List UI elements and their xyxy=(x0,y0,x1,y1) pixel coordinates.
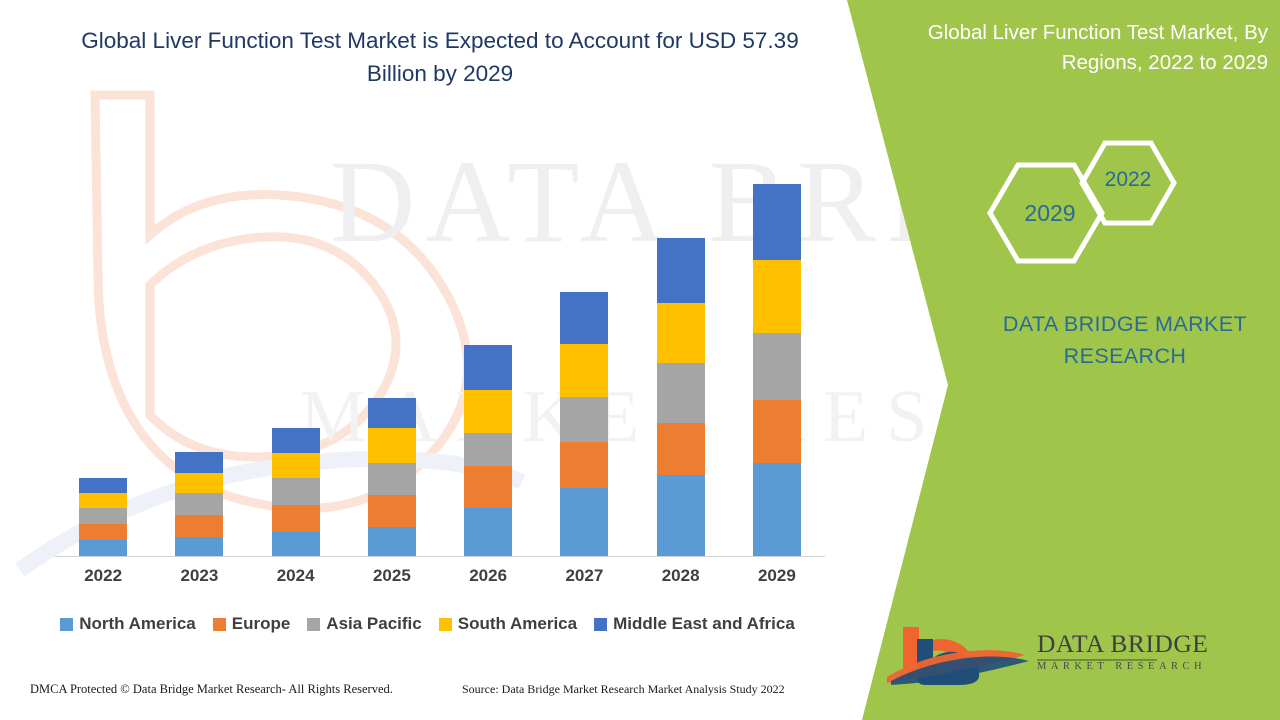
legend-swatch-icon xyxy=(307,618,320,631)
legend-item[interactable]: Europe xyxy=(213,614,291,634)
bar-segment xyxy=(272,478,320,505)
bar-segment xyxy=(272,532,320,556)
stacked-bar xyxy=(464,345,512,556)
bar-segment xyxy=(175,537,223,556)
bar-segment xyxy=(79,540,127,556)
chart-plot-area xyxy=(55,100,825,556)
bar-segment xyxy=(560,292,608,344)
bar-segment xyxy=(368,527,416,556)
legend-swatch-icon xyxy=(594,618,607,631)
brand-name-line1: DATA BRIDGE MARKET xyxy=(960,308,1280,340)
bar-segment xyxy=(272,428,320,453)
hexagon-label-2022: 2022 xyxy=(1091,168,1165,192)
source-note: Source: Data Bridge Market Research Mark… xyxy=(462,682,785,697)
legend-swatch-icon xyxy=(439,618,452,631)
bar-segment xyxy=(560,344,608,397)
bar-segment xyxy=(79,508,127,524)
bar-segment xyxy=(753,260,801,333)
legend-label: Europe xyxy=(232,614,291,634)
bar-segment xyxy=(657,238,705,303)
bar-segment xyxy=(464,466,512,508)
hexagon-label-2029: 2029 xyxy=(998,200,1102,227)
page-title: Global Liver Function Test Market is Exp… xyxy=(70,24,810,90)
bar-segment xyxy=(368,495,416,527)
bar-segment xyxy=(368,398,416,428)
stacked-bar xyxy=(79,478,127,556)
stacked-bar xyxy=(657,238,705,556)
legend-swatch-icon xyxy=(60,618,73,631)
bar-segment xyxy=(560,488,608,556)
stacked-bar xyxy=(560,292,608,556)
stacked-bar xyxy=(368,398,416,556)
bar-segment xyxy=(753,333,801,400)
bar-segment xyxy=(175,493,223,515)
bar-segment xyxy=(560,442,608,488)
bar-segment xyxy=(175,515,223,537)
legend-label: South America xyxy=(458,614,577,634)
bar-segment xyxy=(657,475,705,556)
bar-group xyxy=(151,100,247,556)
bar-segment xyxy=(753,184,801,260)
legend-label: Middle East and Africa xyxy=(613,614,795,634)
bar-segment xyxy=(272,453,320,478)
brand-name: DATA BRIDGE MARKET RESEARCH xyxy=(960,308,1280,372)
footer: DMCA Protected © Data Bridge Market Rese… xyxy=(0,682,855,708)
bar-group xyxy=(55,100,151,556)
bar-group xyxy=(344,100,440,556)
x-axis-label-2022: 2022 xyxy=(55,566,151,586)
bar-segment xyxy=(175,473,223,493)
bar-group xyxy=(729,100,825,556)
x-axis-label-2024: 2024 xyxy=(248,566,344,586)
x-axis-label-2026: 2026 xyxy=(440,566,536,586)
bar-segment xyxy=(753,463,801,556)
bar-segment xyxy=(657,363,705,423)
bar-segment xyxy=(464,390,512,433)
x-axis-line xyxy=(55,556,825,557)
bar-segment xyxy=(79,493,127,508)
stacked-bar xyxy=(753,184,801,556)
bar-segment xyxy=(464,508,512,556)
logo-text-main: DATA BRIDGE xyxy=(1037,629,1208,659)
db-monogram-icon xyxy=(885,625,1035,687)
brand-name-line2: RESEARCH xyxy=(960,340,1280,372)
bar-segment xyxy=(368,428,416,463)
x-axis-label-2029: 2029 xyxy=(729,566,825,586)
x-axis-label-2027: 2027 xyxy=(536,566,632,586)
bar-segment xyxy=(272,505,320,532)
stacked-bar xyxy=(175,452,223,556)
legend-label: Asia Pacific xyxy=(326,614,421,634)
legend-item[interactable]: Asia Pacific xyxy=(307,614,421,634)
stacked-bar xyxy=(272,428,320,556)
bar-segment xyxy=(657,303,705,363)
legend-item[interactable]: South America xyxy=(439,614,577,634)
bar-segment xyxy=(368,463,416,495)
bar-segment xyxy=(464,433,512,466)
legend-item[interactable]: North America xyxy=(60,614,196,634)
legend-item[interactable]: Middle East and Africa xyxy=(594,614,795,634)
bar-group xyxy=(440,100,536,556)
bar-segment xyxy=(560,397,608,442)
data-bridge-logo: DATA BRIDGE MARKET RESEARCH xyxy=(885,625,1145,687)
stacked-bar-chart: 20222023202420252026202720282029 xyxy=(0,0,860,600)
x-axis-label-2023: 2023 xyxy=(151,566,247,586)
bar-segment xyxy=(464,345,512,390)
x-axis-tick-labels: 20222023202420252026202720282029 xyxy=(55,566,825,596)
hexagon-badges: 2029 2022 xyxy=(960,130,1200,290)
bar-segment xyxy=(79,524,127,540)
bar-segment xyxy=(79,478,127,493)
x-axis-label-2028: 2028 xyxy=(633,566,729,586)
bar-segment xyxy=(657,423,705,475)
x-axis-label-2025: 2025 xyxy=(344,566,440,586)
bar-segment xyxy=(175,452,223,473)
bar-group xyxy=(536,100,632,556)
logo-text-sub: MARKET RESEARCH xyxy=(1037,661,1206,672)
infographic-canvas: DATA BRIDGE MARKET RESEARCH Global Liver… xyxy=(0,0,1280,720)
dmca-notice: DMCA Protected © Data Bridge Market Rese… xyxy=(30,682,393,697)
bar-segment xyxy=(753,400,801,463)
right-panel-title: Global Liver Function Test Market, By Re… xyxy=(890,18,1268,78)
legend-swatch-icon xyxy=(213,618,226,631)
bar-group xyxy=(248,100,344,556)
legend-label: North America xyxy=(79,614,196,634)
chart-legend: North AmericaEuropeAsia PacificSouth Ame… xyxy=(0,614,855,634)
bar-group xyxy=(633,100,729,556)
